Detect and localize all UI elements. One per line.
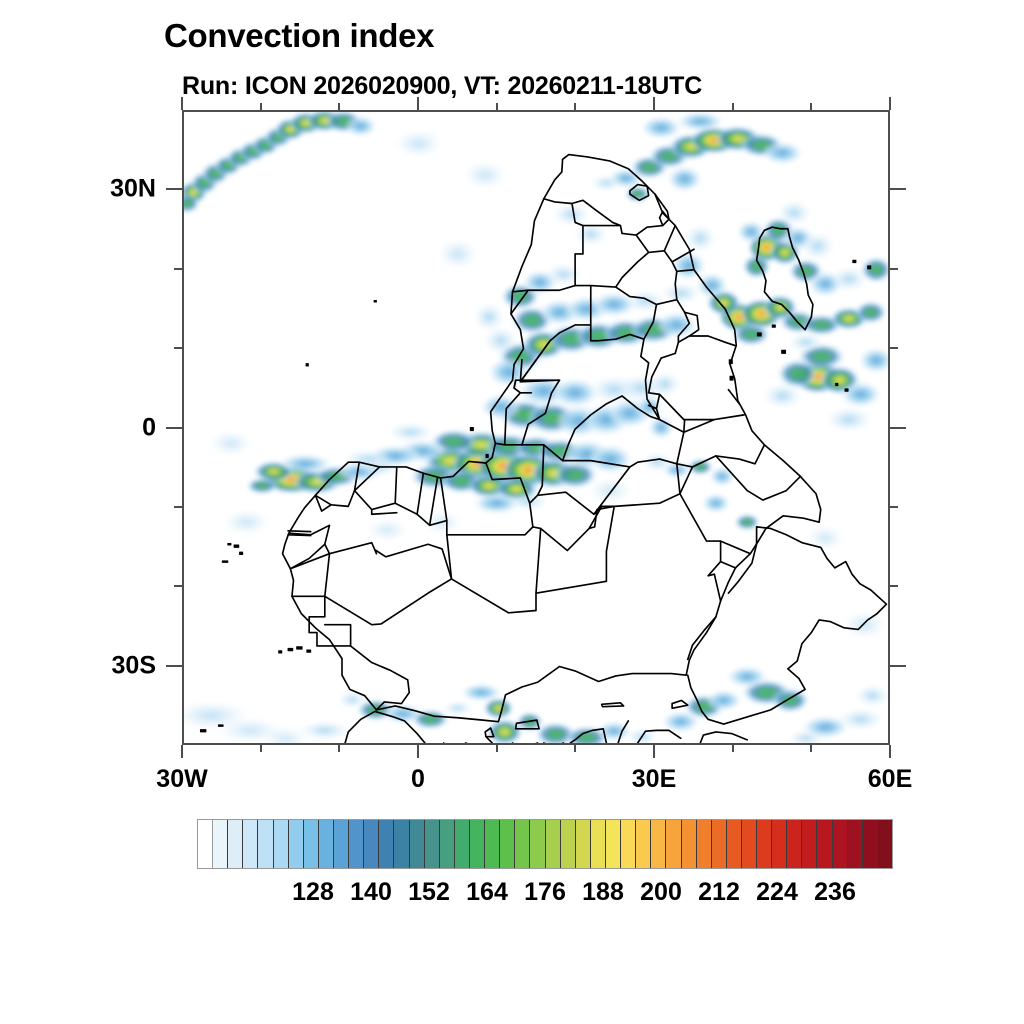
x-minor-tick-top	[732, 103, 734, 110]
y-major-tick	[166, 427, 182, 429]
x-major-tick	[889, 745, 891, 758]
colorbar-segment	[727, 820, 742, 868]
y-major-tick-right	[890, 427, 906, 429]
y-axis-label: 30S	[80, 653, 156, 678]
colorbar-segment	[546, 820, 561, 868]
colorbar-tick-label: 152	[408, 880, 450, 905]
x-major-tick-top	[417, 97, 419, 110]
colorbar-segment	[228, 820, 243, 868]
colorbar-segment	[697, 820, 712, 868]
colorbar-segment	[817, 820, 832, 868]
y-minor-tick-right	[890, 347, 898, 349]
x-minor-tick	[496, 745, 498, 752]
country-borders	[288, 185, 800, 710]
page-title: Convection index	[164, 19, 434, 52]
y-minor-tick	[174, 347, 182, 349]
colorbar-tick-label: 140	[350, 880, 392, 905]
colorbar-tick-labels: 128140152164176188200212224236	[197, 880, 893, 914]
y-minor-tick-right	[890, 268, 898, 270]
colorbar-segment	[621, 820, 636, 868]
y-major-tick	[166, 188, 182, 190]
x-minor-tick	[574, 745, 576, 752]
colorbar-tick-label: 212	[698, 880, 740, 905]
x-minor-tick-top	[496, 103, 498, 110]
x-major-tick-top	[653, 97, 655, 110]
colorbar-segment	[349, 820, 364, 868]
y-major-tick-right	[890, 665, 906, 667]
colorbar-tick-label: 128	[292, 880, 334, 905]
y-minor-tick	[174, 268, 182, 270]
colorbar-segment	[425, 820, 440, 868]
colorbar-segment	[666, 820, 681, 868]
africa-coastline	[283, 155, 821, 722]
africa-convection-map	[184, 112, 888, 743]
colorbar-segment	[440, 820, 455, 868]
x-axis-label: 30E	[632, 767, 676, 792]
colorbar-segment	[757, 820, 772, 868]
colorbar-segment	[515, 820, 530, 868]
figure-subtitle: Run: ICON 2026020900, VT: 20260211-18UTC	[182, 74, 702, 99]
y-minor-tick	[174, 506, 182, 508]
colorbar-tick-label: 236	[814, 880, 856, 905]
x-major-tick	[417, 745, 419, 758]
colorbar-segment	[500, 820, 515, 868]
colorbar[interactable]	[197, 819, 893, 869]
colorbar-segment	[636, 820, 651, 868]
colorbar-segment	[379, 820, 394, 868]
colorbar-tick-label: 200	[640, 880, 682, 905]
plot-frame	[182, 110, 890, 745]
colorbar-segment	[848, 820, 863, 868]
colorbar-segment	[787, 820, 802, 868]
x-minor-tick	[810, 745, 812, 752]
colorbar-gradient	[197, 819, 893, 869]
map-plot-area[interactable]	[182, 110, 890, 745]
x-major-tick-top	[181, 97, 183, 110]
colorbar-segment	[470, 820, 485, 868]
colorbar-tick-label: 176	[524, 880, 566, 905]
colorbar-segment	[258, 820, 273, 868]
colorbar-segment	[289, 820, 304, 868]
colorbar-segment	[485, 820, 500, 868]
x-axis-label: 0	[411, 767, 425, 792]
colorbar-segment	[530, 820, 545, 868]
y-minor-tick	[174, 585, 182, 587]
colorbar-segment	[878, 820, 892, 868]
x-minor-tick	[338, 745, 340, 752]
colorbar-segment	[606, 820, 621, 868]
colorbar-segment	[712, 820, 727, 868]
y-major-tick	[166, 665, 182, 667]
colorbar-segment	[863, 820, 878, 868]
y-minor-tick-right	[890, 585, 898, 587]
x-minor-tick-top	[810, 103, 812, 110]
colorbar-segment	[682, 820, 697, 868]
colorbar-segment	[410, 820, 425, 868]
y-axis-label: 0	[80, 415, 156, 440]
x-axis-label: 30W	[156, 767, 207, 792]
colorbar-segment	[772, 820, 787, 868]
x-major-tick	[653, 745, 655, 758]
colorbar-segment	[334, 820, 349, 868]
colorbar-segment	[198, 820, 213, 868]
colorbar-segment	[651, 820, 666, 868]
colorbar-segment	[455, 820, 470, 868]
x-major-tick-top	[889, 97, 891, 110]
y-axis-label: 30N	[80, 177, 156, 202]
colorbar-tick-label: 164	[466, 880, 508, 905]
colorbar-segment	[394, 820, 409, 868]
colorbar-segment	[319, 820, 334, 868]
colorbar-tick-label: 224	[756, 880, 798, 905]
x-minor-tick	[260, 745, 262, 752]
x-axis-label: 60E	[868, 767, 912, 792]
colorbar-segment	[213, 820, 228, 868]
colorbar-segment	[304, 820, 319, 868]
x-minor-tick-top	[260, 103, 262, 110]
colorbar-segment	[364, 820, 379, 868]
colorbar-segment	[833, 820, 848, 868]
x-major-tick	[181, 745, 183, 758]
colorbar-segment	[576, 820, 591, 868]
colorbar-segment	[802, 820, 817, 868]
x-minor-tick	[732, 745, 734, 752]
x-minor-tick-top	[574, 103, 576, 110]
colorbar-segment	[243, 820, 258, 868]
x-minor-tick-top	[338, 103, 340, 110]
colorbar-segment	[742, 820, 757, 868]
colorbar-segment	[591, 820, 606, 868]
y-minor-tick-right	[890, 506, 898, 508]
colorbar-segment	[561, 820, 576, 868]
colorbar-segment	[274, 820, 289, 868]
colorbar-tick-label: 188	[582, 880, 624, 905]
y-major-tick-right	[890, 188, 906, 190]
convection-index-figure: Convection index Run: ICON 2026020900, V…	[0, 0, 1024, 1024]
